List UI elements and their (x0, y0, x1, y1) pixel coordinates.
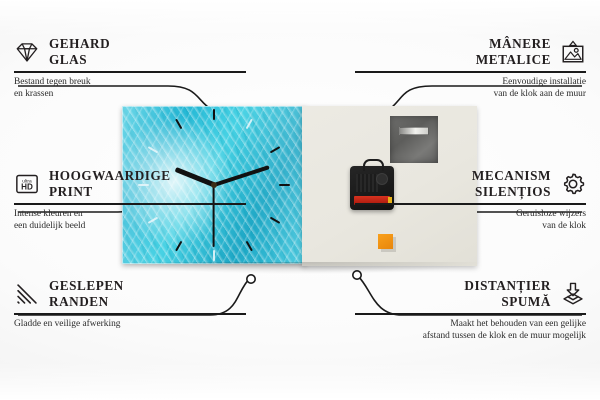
diagonal-lines-icon (14, 281, 40, 307)
infographic-canvas: GEHARD GLAS Bestand tegen breuk en krass… (0, 0, 600, 400)
diamond-icon (14, 39, 40, 65)
ultra-hd-icon: ultra HD (14, 171, 40, 197)
feature-description: Eenvoudige installatie van de klok aan d… (355, 76, 586, 101)
feature-metal-handles[interactable]: MÂNERE METALICE Eenvoudige installatie v… (355, 36, 586, 101)
desc-line-2: van de klok (355, 220, 586, 233)
title-line-2: SILENȚIOS (472, 184, 551, 200)
feature-foam-spacer[interactable]: DISTANȚIER SPUMĂ Maakt het behouden van … (355, 278, 586, 343)
feature-header: GEHARD GLAS (14, 36, 246, 68)
title-line-2: PRINT (49, 184, 171, 200)
feature-title: DISTANȚIER SPUMĂ (464, 278, 551, 310)
desc-line-1: Geruisloze wijzers (355, 208, 586, 221)
desc-line-1: Bestand tegen breuk (14, 76, 246, 89)
feature-header: MECANISM SILENȚIOS (355, 168, 586, 200)
feature-description: Geruisloze wijzers van de klok (355, 208, 586, 233)
feature-header: MÂNERE METALICE (355, 36, 586, 68)
feature-description: Maakt het behouden van een gelijke afsta… (355, 318, 586, 343)
desc-line-1: Maakt het behouden van een gelijke (355, 318, 586, 331)
title-line-2: SPUMĂ (464, 294, 551, 310)
desc-line-1: Gladde en veilige afwerking (14, 318, 246, 331)
picture-frame-icon (560, 39, 586, 65)
connector-dot-edges (247, 275, 255, 283)
title-line-1: DISTANȚIER (464, 278, 551, 294)
title-line-1: GESLEPEN (49, 278, 124, 294)
feature-tempered-glass[interactable]: GEHARD GLAS Bestand tegen breuk en krass… (14, 36, 246, 101)
hanger-slot (399, 127, 429, 135)
feature-silent-mechanism[interactable]: MECANISM SILENȚIOS Geruisloze wijzers va… (355, 168, 586, 233)
feature-rule (14, 71, 246, 73)
feature-title: HOOGWAARDIGE PRINT (49, 168, 171, 200)
feature-title: MÂNERE METALICE (476, 36, 551, 68)
feature-rule (355, 203, 586, 205)
title-line-1: GEHARD (49, 36, 110, 52)
feature-rule (14, 203, 246, 205)
desc-line-1: Intense kleuren en (14, 208, 246, 221)
foam-spacer (378, 234, 393, 249)
feature-description: Gladde en veilige afwerking (14, 318, 246, 331)
metal-hanger-plate (390, 116, 438, 163)
feature-high-quality-print[interactable]: ultra HD HOOGWAARDIGE PRINT Intense kleu… (14, 168, 246, 233)
desc-line-2: van de klok aan de muur (355, 88, 586, 101)
feature-title: MECANISM SILENȚIOS (472, 168, 551, 200)
desc-line-2: en krassen (14, 88, 246, 101)
feature-description: Bestand tegen breuk en krassen (14, 76, 246, 101)
gear-icon (560, 171, 586, 197)
arrow-into-layers-icon (560, 281, 586, 307)
feature-rule (14, 313, 246, 315)
desc-line-1: Eenvoudige installatie (355, 76, 586, 89)
title-line-1: MECANISM (472, 168, 551, 184)
feature-rule (355, 313, 586, 315)
feature-description: Intense kleuren en een duidelijk beeld (14, 208, 246, 233)
product-shadow (120, 262, 480, 274)
desc-line-2: een duidelijk beeld (14, 220, 246, 233)
feature-header: GESLEPEN RANDEN (14, 278, 246, 310)
feature-title: GESLEPEN RANDEN (49, 278, 124, 310)
title-line-2: RANDEN (49, 294, 124, 310)
feature-header: DISTANȚIER SPUMĂ (355, 278, 586, 310)
title-line-1: HOOGWAARDIGE (49, 168, 171, 184)
feature-rule (355, 71, 586, 73)
title-line-2: METALICE (476, 52, 551, 68)
title-line-2: GLAS (49, 52, 110, 68)
feature-title: GEHARD GLAS (49, 36, 110, 68)
title-line-1: MÂNERE (476, 36, 551, 52)
feature-header: ultra HD HOOGWAARDIGE PRINT (14, 168, 246, 200)
desc-line-2: afstand tussen de klok en de muur mogeli… (355, 330, 586, 343)
svg-text:HD: HD (21, 183, 33, 192)
feature-ground-edges[interactable]: GESLEPEN RANDEN Gladde en veilige afwerk… (14, 278, 246, 330)
